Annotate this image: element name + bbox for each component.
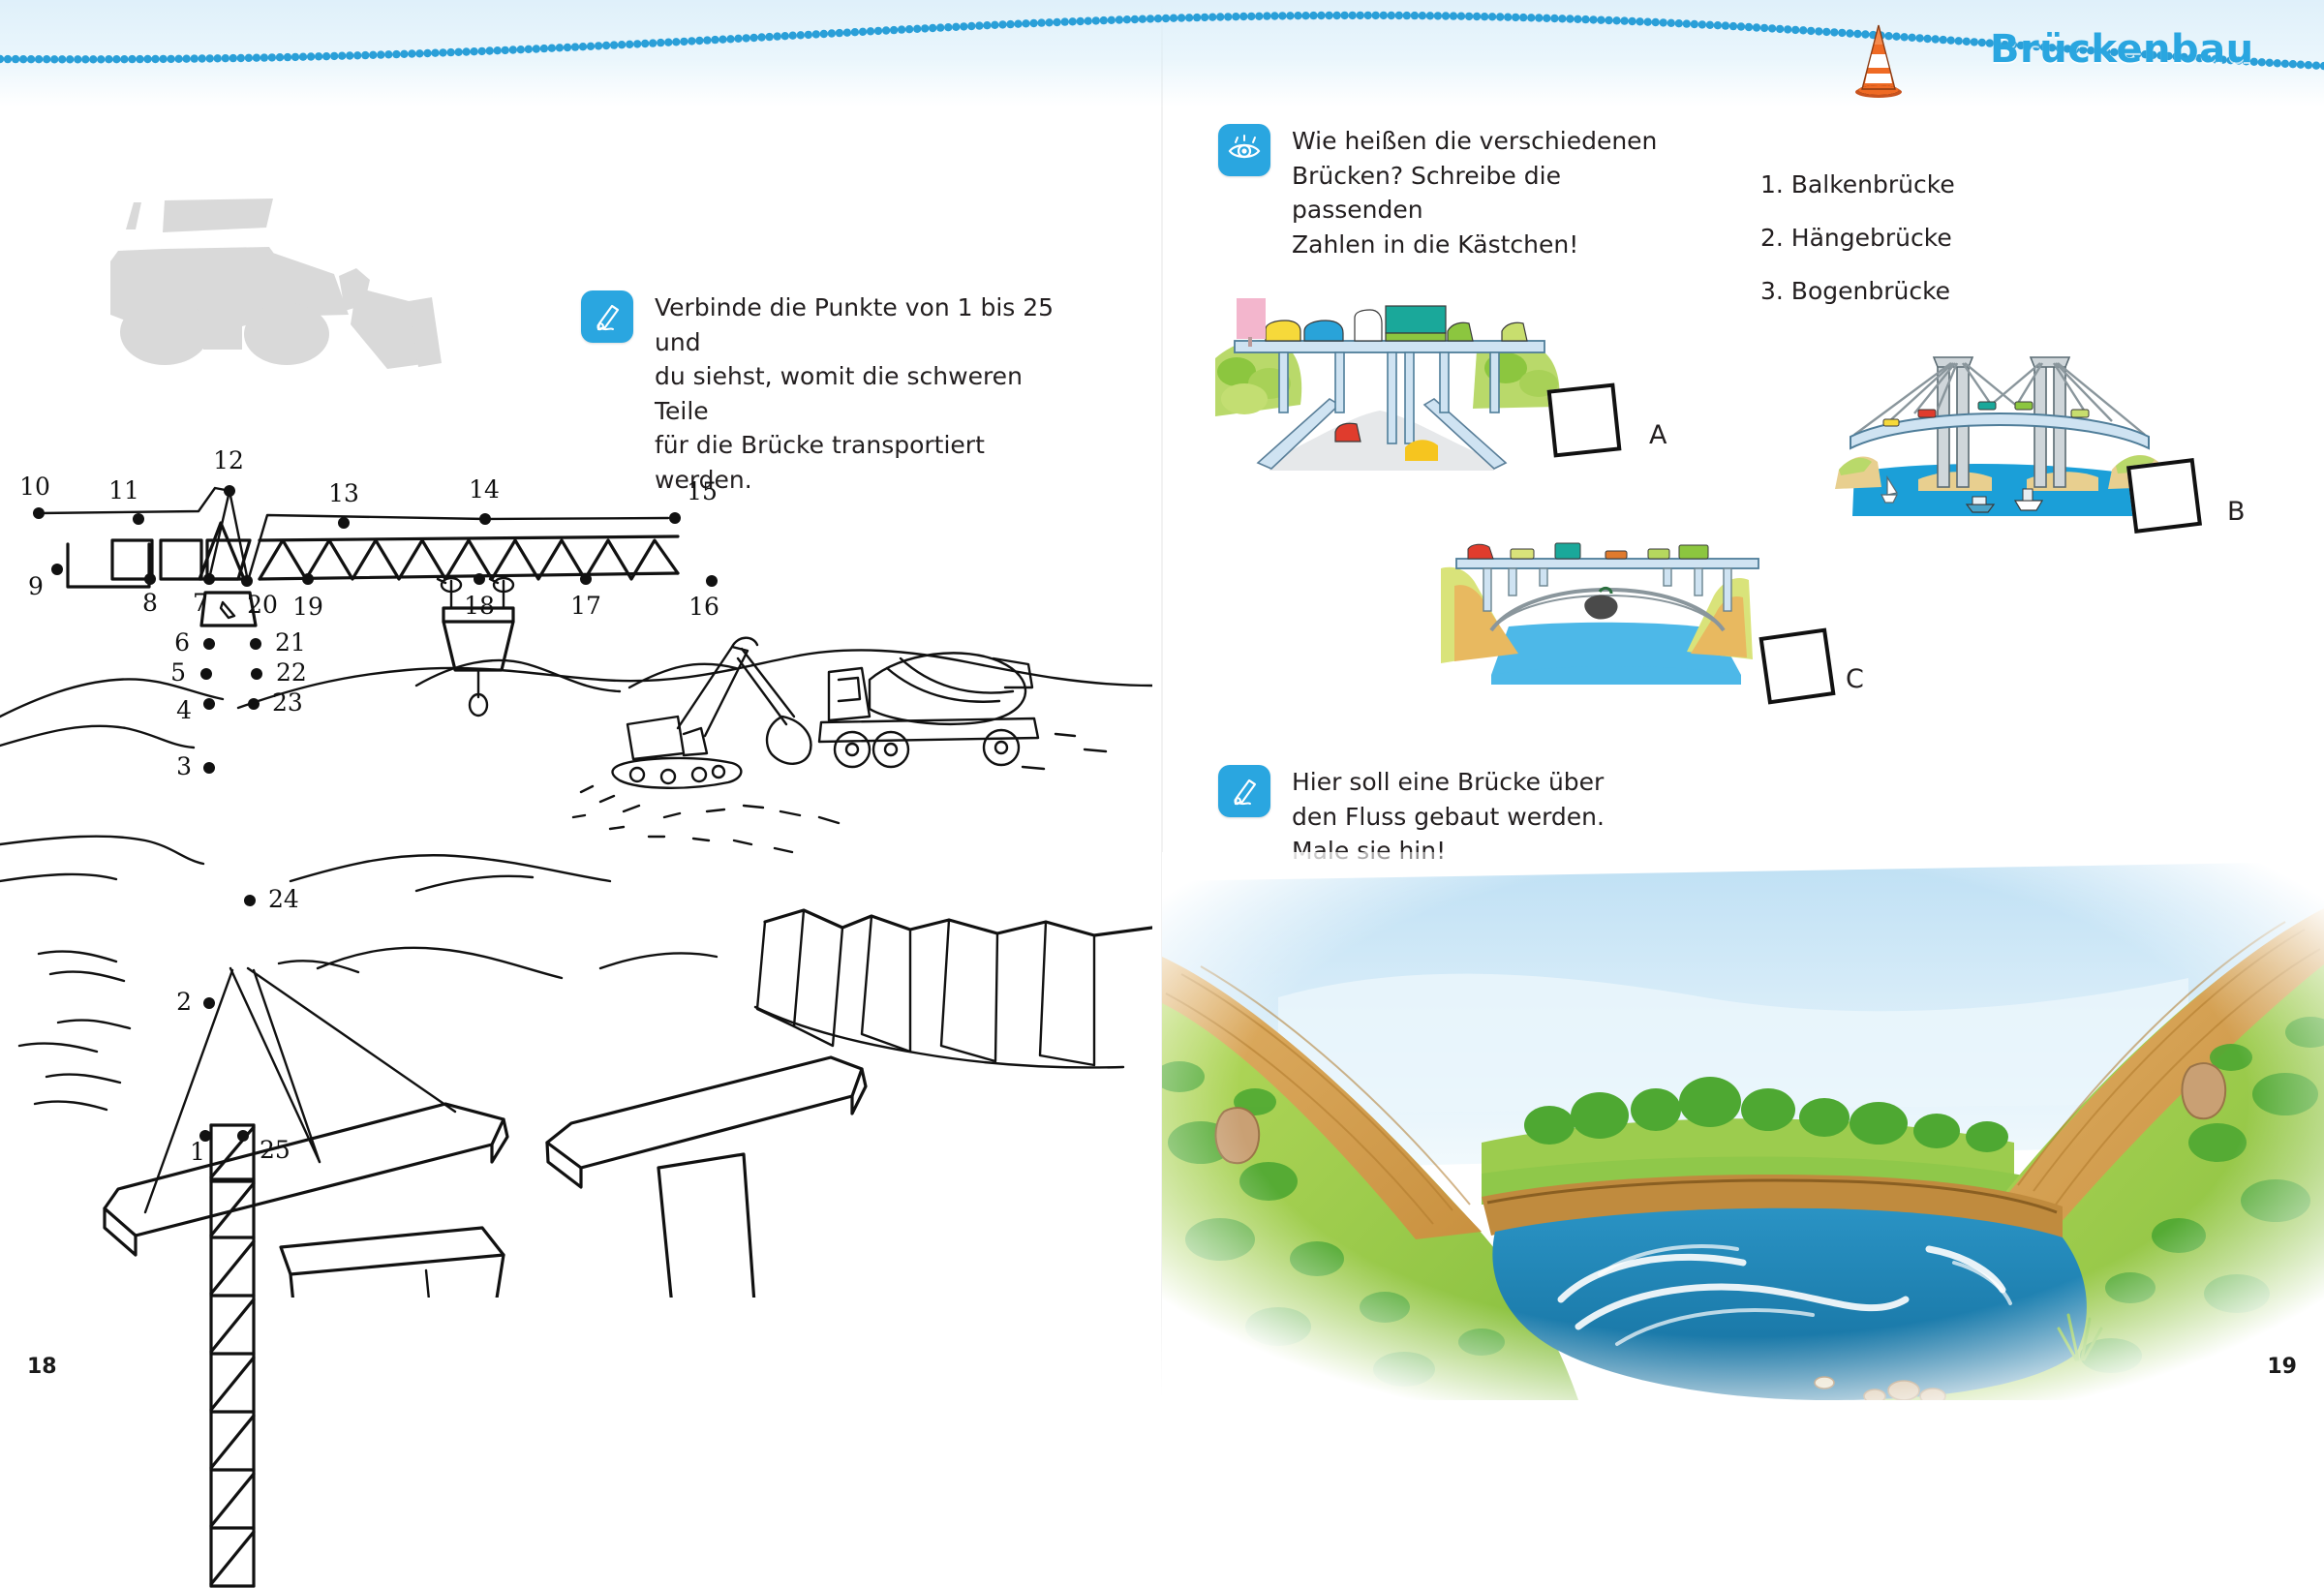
dot-label-5: 5 xyxy=(153,658,186,687)
dot-label-16: 16 xyxy=(685,593,723,621)
bridge-type-item: 1. Balkenbrücke xyxy=(1760,172,1955,197)
dot-point-2 xyxy=(203,997,215,1009)
dot-label-23: 23 xyxy=(272,688,303,717)
dot-label-19: 19 xyxy=(289,593,327,621)
pencil-icon xyxy=(1218,765,1270,817)
page-title: Brückenbau xyxy=(1990,27,2254,72)
bridge-label-B: B xyxy=(2227,497,2246,527)
bridge-label-A: A xyxy=(1649,420,1667,450)
dot-label-24: 24 xyxy=(268,885,299,913)
dot-label-10: 10 xyxy=(15,473,54,501)
dot-point-14 xyxy=(479,513,491,525)
bridge-type-item: 2. Hängebrücke xyxy=(1760,226,1955,250)
dot-point-11 xyxy=(133,513,144,525)
river-valley-illustration xyxy=(1162,852,2324,1400)
dot-point-21 xyxy=(250,638,261,650)
instruction-text: Wie heißen die verschiedenen Brücken? Sc… xyxy=(1292,124,1664,261)
wheel-loader-silhouette xyxy=(97,179,484,392)
dot-label-1: 1 xyxy=(178,1138,217,1166)
dot-point-25 xyxy=(237,1130,249,1142)
dot-label-4: 4 xyxy=(159,696,192,724)
dot-label-14: 14 xyxy=(465,475,504,504)
dot-label-15: 15 xyxy=(683,477,721,505)
dot-point-18 xyxy=(474,573,485,585)
dot-label-11: 11 xyxy=(105,476,143,504)
dot-label-9: 9 xyxy=(16,572,55,600)
dot-point-20 xyxy=(241,575,253,587)
dot-point-8 xyxy=(144,573,156,585)
beam-bridge-illustration xyxy=(1215,290,1564,474)
dot-point-4 xyxy=(203,698,215,710)
traffic-cone-icon xyxy=(1845,21,1912,99)
dot-label-6: 6 xyxy=(157,628,190,657)
answer-box-A[interactable] xyxy=(1547,383,1622,458)
bridge-type-item: 3. Bogenbrücke xyxy=(1760,279,1955,303)
dot-label-17: 17 xyxy=(566,592,605,620)
dot-point-7 xyxy=(203,573,215,585)
page-number-right: 19 xyxy=(2267,1355,2297,1379)
dot-label-21: 21 xyxy=(275,628,306,657)
dot-label-22: 22 xyxy=(276,658,307,687)
dot-point-16 xyxy=(706,575,718,587)
suspension-bridge-illustration xyxy=(1825,334,2174,518)
dot-label-25: 25 xyxy=(260,1136,290,1164)
eye-icon xyxy=(1218,124,1270,176)
dot-point-12 xyxy=(224,485,235,497)
dot-point-23 xyxy=(248,698,260,710)
dot-point-3 xyxy=(203,762,215,774)
arch-bridge-illustration xyxy=(1433,537,1782,712)
book-spread: Brückenbau Verbinde die Punkte xyxy=(0,0,2324,1400)
dot-label-13: 13 xyxy=(324,479,363,507)
dot-label-12: 12 xyxy=(209,446,248,474)
dot-label-8: 8 xyxy=(131,589,169,617)
dot-label-7: 7 xyxy=(181,589,220,617)
dot-point-17 xyxy=(580,573,592,585)
dot-label-18: 18 xyxy=(460,592,499,620)
answer-box-B[interactable] xyxy=(2126,458,2202,534)
bridge-type-list: 1. Balkenbrücke 2. Hängebrücke 3. Bogenb… xyxy=(1760,172,1955,332)
dot-point-22 xyxy=(251,668,262,680)
dot-point-6 xyxy=(203,638,215,650)
crane-mast-lattice xyxy=(174,1123,300,1588)
dot-point-5 xyxy=(200,668,212,680)
dot-label-20: 20 xyxy=(243,591,282,619)
dot-label-2: 2 xyxy=(159,988,192,1016)
dot-to-dot-points xyxy=(0,426,775,1181)
dot-label-3: 3 xyxy=(159,752,192,780)
answer-box-C[interactable] xyxy=(1758,627,1835,704)
dot-point-13 xyxy=(338,517,350,529)
dot-point-10 xyxy=(33,507,45,519)
instruction-bridge-names: Wie heißen die verschiedenen Brücken? Sc… xyxy=(1218,124,1664,261)
dot-point-24 xyxy=(244,895,256,906)
dot-point-19 xyxy=(302,573,314,585)
page-number-left: 18 xyxy=(27,1355,57,1379)
dot-point-15 xyxy=(669,512,681,524)
pencil-icon xyxy=(581,290,633,343)
bridge-label-C: C xyxy=(1846,664,1864,694)
